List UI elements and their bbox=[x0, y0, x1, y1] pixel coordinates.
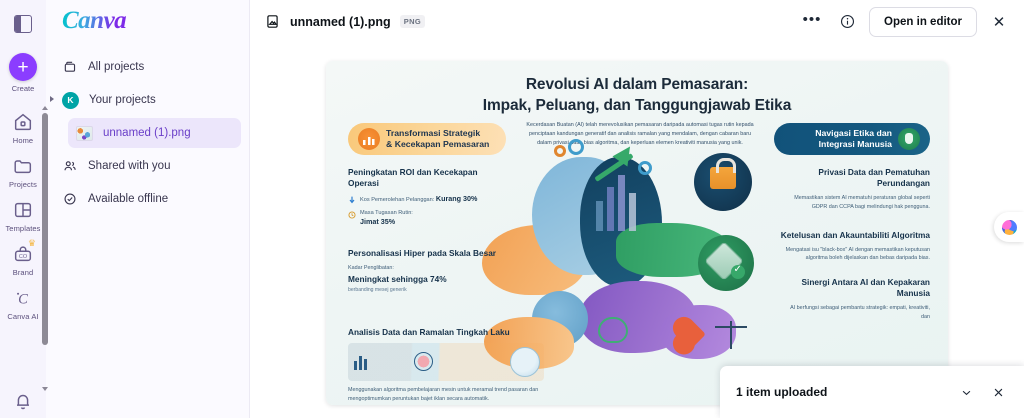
crystal-ball-icon bbox=[510, 347, 540, 377]
toast-close-icon[interactable] bbox=[986, 380, 1010, 404]
sidebar-item-label: Shared with you bbox=[88, 160, 170, 172]
projects-sidebar: Canva All projects K Your projects unnam… bbox=[46, 0, 250, 418]
justice-scale-icon bbox=[714, 321, 748, 351]
stat-row: Kos Pemerolehan Pelanggan: Kurang 30% bbox=[348, 194, 498, 205]
canva-logo[interactable]: Canva bbox=[46, 0, 249, 42]
right-block-sinergi: Sinergi Antara AI dan Kepakaran Manusia … bbox=[780, 277, 930, 322]
badge-line-2: Integrasi Manusia bbox=[819, 139, 892, 149]
stat-text: Kos Pemerolehan Pelanggan: Kurang 30% bbox=[360, 194, 477, 205]
badge-transformasi-strategik: Transformasi Strategik & Kecekapan Pemas… bbox=[348, 123, 506, 155]
rail-item-label: Projects bbox=[9, 180, 37, 189]
scrollbar-thumb[interactable] bbox=[42, 113, 48, 345]
block-label: Kadar Penglibatan: bbox=[348, 264, 498, 273]
canva-ai-orb-icon bbox=[1002, 220, 1017, 235]
home-icon bbox=[12, 111, 34, 133]
canva-projects-page: + Create Home Projects Templates ♛ bbox=[0, 0, 1024, 418]
preview-stage: Revolusi AI dalam Pemasaran: Impak, Pelu… bbox=[250, 43, 1024, 418]
sidebar-item-label: Your projects bbox=[89, 94, 156, 106]
right-block-privasi: Privasi Data dan Pematuhan Perundangan M… bbox=[780, 167, 930, 212]
badge-text: Navigasi Etika dan Integrasi Manusia bbox=[815, 128, 892, 150]
badge-line-1: Navigasi Etika dan bbox=[815, 128, 892, 138]
shield-person-icon bbox=[898, 128, 920, 150]
block-body: Menggunakan algoritma pembelajaran mesin… bbox=[348, 386, 544, 404]
block-body: Mengatasi isu "black-box" AI dengan mema… bbox=[780, 246, 930, 264]
all-projects-icon bbox=[62, 59, 78, 75]
title-line-2: Impak, Peluang, dan Tanggungjawab Etika bbox=[326, 96, 948, 117]
open-in-editor-button[interactable]: Open in editor bbox=[869, 7, 977, 37]
svg-text:C: C bbox=[18, 292, 28, 308]
stat-label: Masa Tugasan Rutin: bbox=[360, 210, 413, 216]
gear-icon bbox=[554, 145, 566, 157]
upload-toast: 1 item uploaded bbox=[720, 366, 1024, 418]
sidebar-item-shared-with-you[interactable]: Shared with you bbox=[54, 151, 241, 181]
image-file-icon bbox=[264, 13, 281, 30]
block-heading: Ketelusan dan Akauntabiliti Algoritma bbox=[780, 230, 930, 241]
user-avatar-k: K bbox=[62, 92, 79, 109]
chart-growth-icon bbox=[358, 128, 380, 150]
stat-label: Kos Pemerolehan Pelanggan: bbox=[360, 197, 434, 203]
check-circle-icon bbox=[62, 191, 78, 207]
left-block-personalisasi: Personalisasi Hiper pada Skala Besar Kad… bbox=[348, 248, 498, 294]
page-title: unnamed (1).png bbox=[290, 15, 391, 29]
format-badge: PNG bbox=[400, 15, 425, 28]
preview-topbar: unnamed (1).png PNG ••• Open in editor ✕ bbox=[250, 0, 1024, 43]
arrow-down-icon bbox=[348, 196, 356, 204]
bell-icon bbox=[12, 390, 34, 412]
toast-message: 1 item uploaded bbox=[736, 385, 827, 399]
badge-text: Transformasi Strategik & Kecekapan Pemas… bbox=[386, 128, 489, 150]
caret-up-icon[interactable] bbox=[40, 104, 49, 111]
templates-icon bbox=[12, 199, 34, 221]
rail-item-label: Templates bbox=[5, 224, 40, 233]
data-flow-illustration bbox=[348, 343, 544, 381]
canva-ai-button[interactable] bbox=[994, 212, 1024, 242]
plus-icon[interactable]: + bbox=[9, 53, 37, 81]
people-icon bbox=[62, 158, 78, 174]
clock-icon bbox=[348, 211, 356, 219]
stat-value: Kurang 30% bbox=[436, 194, 478, 203]
panel-toggle-icon[interactable] bbox=[14, 15, 32, 33]
close-icon[interactable]: ✕ bbox=[986, 9, 1012, 35]
block-body: AI berfungsi sebagai pembantu strategik:… bbox=[780, 304, 930, 322]
stat-row: Masa Tugasan Rutin: Jimat 35% bbox=[348, 209, 498, 228]
infographic-wide-block: Analisis Data dan Ramalan Tingkah Laku M… bbox=[348, 327, 544, 404]
badge-line-2: & Kecekapan Pemasaran bbox=[386, 139, 489, 149]
rail-item-label: Canva AI bbox=[7, 312, 38, 321]
block-note: berbanding mesej generik bbox=[348, 286, 498, 294]
close-glyph bbox=[991, 385, 1006, 400]
crown-icon: ♛ bbox=[28, 239, 36, 248]
left-block-roi: Peningkatan ROI dan Kecekapan Operasi Ko… bbox=[348, 167, 498, 228]
info-circle-icon bbox=[839, 13, 856, 30]
rail-item-label: Home bbox=[13, 136, 33, 145]
block-heading: Sinergi Antara AI dan Kepakaran Manusia bbox=[780, 277, 930, 299]
sidebar-item-all-projects[interactable]: All projects bbox=[54, 52, 241, 82]
stat-text: Masa Tugasan Rutin: Jimat 35% bbox=[360, 209, 413, 228]
info-icon[interactable] bbox=[834, 9, 860, 35]
sidebar-scrollbar[interactable] bbox=[40, 104, 49, 394]
block-body: Memastikan sistem AI mematuhi peraturan … bbox=[780, 194, 930, 212]
sidebar-item-available-offline[interactable]: Available offline bbox=[54, 184, 241, 214]
sidebar-item-label: Available offline bbox=[88, 193, 168, 205]
sidebar-item-label: unnamed (1).png bbox=[103, 127, 191, 139]
sidebar-item-unnamed-png[interactable]: unnamed (1).png bbox=[68, 118, 241, 148]
gear-icon bbox=[638, 161, 652, 175]
brain-outline-icon bbox=[598, 317, 628, 343]
gear-icon bbox=[568, 139, 584, 155]
file-preview-pane: unnamed (1).png PNG ••• Open in editor ✕… bbox=[250, 0, 1024, 418]
block-heading: Analisis Data dan Ramalan Tingkah Laku bbox=[348, 327, 544, 337]
sidebar-item-your-projects[interactable]: K Your projects bbox=[54, 85, 241, 115]
sidebar-nav: All projects K Your projects unnamed (1)… bbox=[46, 42, 249, 214]
chevron-glyph bbox=[959, 385, 974, 400]
rail-item-create[interactable]: + Create bbox=[0, 45, 46, 95]
rail-item-label: Brand bbox=[13, 268, 34, 277]
image-thumbnail bbox=[76, 126, 93, 141]
verified-check-icon bbox=[731, 265, 745, 279]
padlock-icon bbox=[710, 167, 736, 189]
canva-ai-icon: C bbox=[12, 287, 34, 309]
folder-icon bbox=[12, 155, 34, 177]
expand-twisty-icon[interactable] bbox=[50, 96, 54, 102]
block-heading: Personalisasi Hiper pada Skala Besar bbox=[348, 248, 498, 259]
more-options-icon[interactable]: ••• bbox=[799, 9, 825, 35]
title-line-1: Revolusi AI dalam Pemasaran: bbox=[326, 75, 948, 96]
infographic-left-column: Peningkatan ROI dan Kecekapan Operasi Ko… bbox=[348, 167, 498, 308]
sidebar-item-label: All projects bbox=[88, 61, 144, 73]
infographic-title: Revolusi AI dalam Pemasaran: Impak, Pelu… bbox=[326, 61, 948, 117]
block-heading: Privasi Data dan Pematuhan Perundangan bbox=[780, 167, 930, 189]
rail-item-label: Create bbox=[12, 84, 35, 93]
block-heading: Peningkatan ROI dan Kecekapan Operasi bbox=[348, 167, 498, 189]
badge-line-1: Transformasi Strategik bbox=[386, 128, 480, 138]
infographic-image[interactable]: Revolusi AI dalam Pemasaran: Impak, Pelu… bbox=[326, 61, 948, 405]
canva-logo-text: Canva bbox=[62, 7, 126, 35]
badge-navigasi-etika: Navigasi Etika dan Integrasi Manusia bbox=[774, 123, 930, 155]
right-block-ketelusan: Ketelusan dan Akauntabiliti Algoritma Me… bbox=[780, 230, 930, 264]
infographic-right-column: Privasi Data dan Pematuhan Perundangan M… bbox=[780, 167, 930, 336]
stat-value: Jimat 35% bbox=[360, 217, 395, 226]
block-value: Meningkat sehingga 74% bbox=[348, 274, 498, 285]
chevron-down-icon[interactable] bbox=[954, 380, 978, 404]
svg-text:CO: CO bbox=[19, 254, 28, 260]
caret-down-icon[interactable] bbox=[40, 385, 49, 392]
